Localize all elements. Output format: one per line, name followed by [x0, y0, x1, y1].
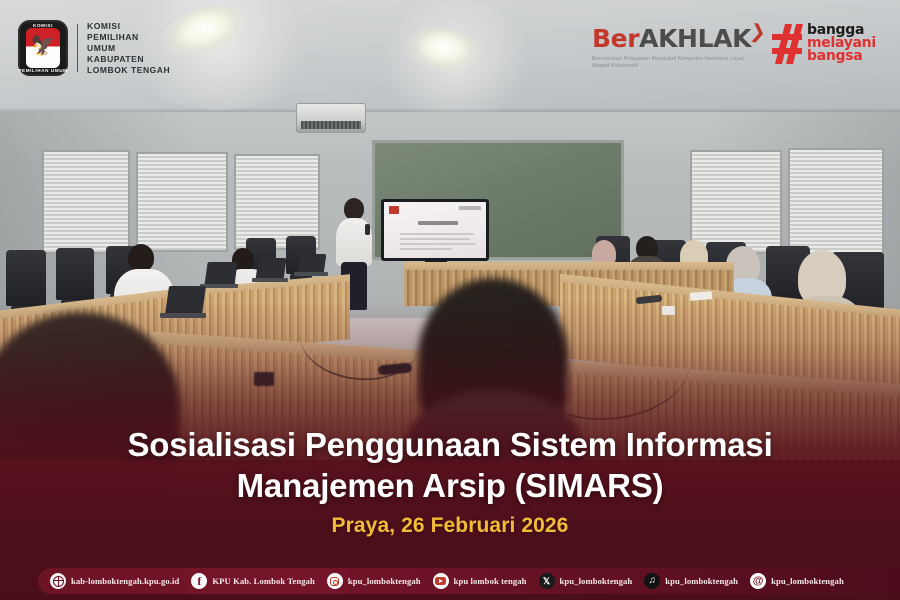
window-blind: [788, 148, 884, 256]
kpu-arc-bottom: PEMILIHAN UMUM: [18, 68, 68, 73]
laptop: [252, 258, 286, 282]
social-handle-website: kab-lomboktengah.kpu.go.id: [71, 576, 179, 586]
youtube-icon: [433, 573, 449, 589]
bangga-melayani-bangsa-logo: bangga melayani bangsa: [772, 24, 876, 64]
hashtag-icon: [772, 24, 802, 64]
tiktok-icon: ♫: [644, 573, 660, 589]
bangga-wordmark: bangga melayani bangsa: [807, 24, 876, 63]
social-item-youtube[interactable]: kpu lombok tengah: [433, 573, 527, 589]
facebook-icon: f: [191, 573, 207, 589]
chair: [56, 248, 94, 300]
kpu-line-2: PEMILIHAN: [87, 32, 170, 42]
berakhlak-wordmark: BerAKHLAK❯: [592, 26, 767, 54]
window-blind: [690, 150, 782, 254]
slide-header-mark: [459, 206, 481, 210]
banner-subtitle: Praya, 26 Februari 2026: [40, 514, 860, 538]
social-item-facebook[interactable]: f KPU Kab. Lombok Tengah: [191, 573, 315, 589]
social-handle-instagram: kpu_lomboktengah: [348, 576, 421, 586]
laptop: [200, 262, 236, 288]
instagram-icon: [327, 573, 343, 589]
kpu-line-5: LOMBOK TENGAH: [87, 65, 170, 75]
bangga-line-3: bangsa: [807, 50, 876, 63]
microphone-icon: [365, 224, 370, 235]
social-item-instagram[interactable]: kpu_lomboktengah: [327, 573, 421, 589]
website-icon: [50, 573, 66, 589]
social-handle-youtube: kpu lombok tengah: [454, 576, 527, 586]
social-handle-tiktok: kpu_lomboktengah: [665, 576, 738, 586]
berakhlak-logo: BerAKHLAK❯ Berorientasi Pelayanan Akunta…: [592, 26, 767, 70]
slide-title-placeholder: [418, 221, 458, 225]
x-twitter-icon: 𝕏: [539, 573, 555, 589]
chair: [6, 250, 46, 306]
social-handle-facebook: KPU Kab. Lombok Tengah: [212, 576, 315, 586]
social-item-x[interactable]: 𝕏 kpu_lomboktengah: [539, 573, 633, 589]
banner-canvas: 🦅 KOMISI PEMILIHAN UMUM KOMISI PEMILIHAN…: [0, 0, 900, 600]
berakhlak-tagline: Berorientasi Pelayanan Akuntabel Kompete…: [592, 56, 744, 70]
kpu-logo-block: 🦅 KOMISI PEMILIHAN UMUM KOMISI PEMILIHAN…: [18, 20, 170, 76]
kpu-line-1: KOMISI: [87, 21, 170, 31]
laptop: [294, 254, 326, 276]
banner-title: Sosialisasi Penggunaan Sistem Informasi …: [40, 424, 860, 506]
slide-logo-icon: [389, 206, 399, 214]
window-blind: [136, 152, 228, 252]
kpu-arc-top: KOMISI: [18, 23, 68, 28]
threads-icon: @: [750, 573, 766, 589]
kpu-emblem-icon: 🦅 KOMISI PEMILIHAN UMUM: [18, 20, 68, 76]
kpu-line-4: KABUPATEN: [87, 54, 170, 64]
logo-divider: [77, 24, 78, 72]
participant-head: [128, 244, 154, 272]
slide-content: [384, 202, 486, 258]
social-handle-threads: kpu_lomboktengah: [771, 576, 844, 586]
social-handle-x: kpu_lomboktengah: [560, 576, 633, 586]
presentation-screen: [381, 199, 489, 261]
kpu-wordmark: KOMISI PEMILIHAN UMUM KABUPATEN LOMBOK T…: [87, 21, 170, 75]
window-blind: [42, 150, 130, 254]
social-item-threads[interactable]: @ kpu_lomboktengah: [750, 573, 844, 589]
berakhlak-part1: Ber: [592, 24, 639, 53]
title-block: Sosialisasi Penggunaan Sistem Informasi …: [0, 424, 900, 538]
social-footer-bar: kab-lomboktengah.kpu.go.id f KPU Kab. Lo…: [38, 568, 900, 594]
air-conditioner: [296, 103, 366, 133]
social-item-tiktok[interactable]: ♫ kpu_lomboktengah: [644, 573, 738, 589]
social-item-website[interactable]: kab-lomboktengah.kpu.go.id: [50, 573, 179, 589]
garuda-icon: 🦅: [31, 36, 56, 56]
header-logos: 🦅 KOMISI PEMILIHAN UMUM KOMISI PEMILIHAN…: [0, 0, 900, 96]
presenter-head: [344, 198, 364, 220]
chevron-right-icon: ❯: [748, 18, 767, 46]
kpu-line-3: UMUM: [87, 43, 170, 53]
banner-title-line-1: Sosialisasi Penggunaan Sistem Informasi: [40, 424, 860, 465]
berakhlak-part2: AKHLAK: [639, 24, 751, 53]
banner-title-line-2: Manajemen Arsip (SIMARS): [40, 465, 860, 506]
